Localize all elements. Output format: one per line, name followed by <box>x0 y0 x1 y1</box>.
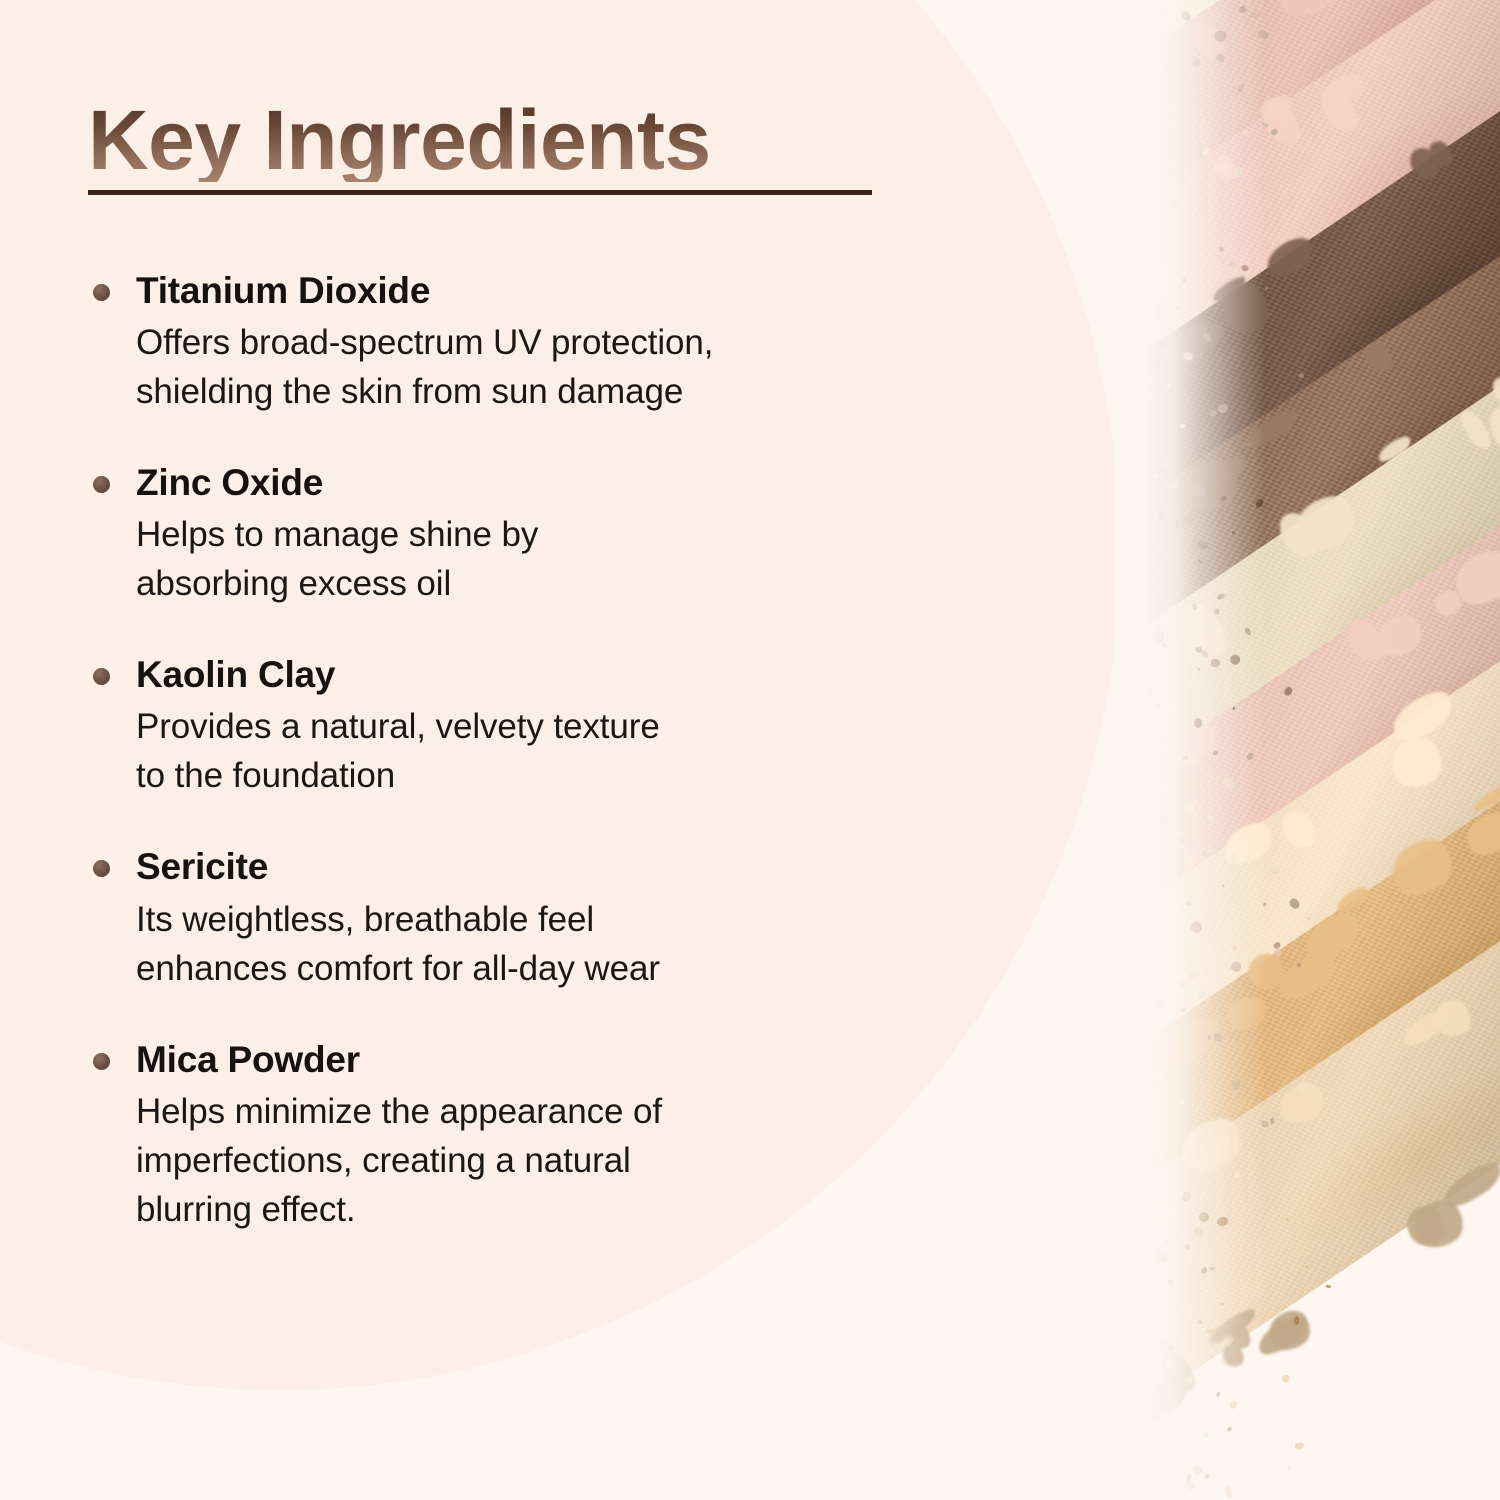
bullet-dot-icon <box>93 668 110 685</box>
powder-speckle <box>1218 246 1223 252</box>
powder-crumb <box>1115 808 1145 862</box>
powder-speckle <box>1222 884 1224 887</box>
powder-speckle <box>1151 679 1153 681</box>
powder-crumb <box>1275 805 1322 854</box>
powder-crumb <box>1115 534 1140 575</box>
powder-crumb <box>1382 729 1450 797</box>
list-item: Kaolin ClayProvides a natural, velvety t… <box>90 652 970 800</box>
powder-speckle <box>1185 1480 1196 1491</box>
powder-speckle <box>1149 1449 1151 1452</box>
powder-crumb <box>1437 1156 1500 1215</box>
content-column: Key Ingredients Titanium DioxideOffers b… <box>0 0 1000 1500</box>
powder-speckle <box>1144 995 1148 1001</box>
powder-speckle <box>1205 1328 1214 1334</box>
powder-speckle <box>1203 1431 1210 1438</box>
powder-speckle <box>1298 373 1303 378</box>
powder-speckle <box>1210 658 1219 667</box>
ingredient-name: Kaolin Clay <box>136 652 970 697</box>
powder-crumb <box>1115 1059 1158 1120</box>
powder-speckle <box>1159 1432 1162 1436</box>
ingredient-description: Provides a natural, velvety texture to t… <box>136 702 970 800</box>
powder-speckle <box>1147 89 1153 96</box>
powder-speckle <box>1295 1442 1304 1450</box>
bullet-dot-icon <box>93 476 110 493</box>
ingredient-name: Titanium Dioxide <box>136 268 970 313</box>
list-item: SericiteIts weightless, breathable feel … <box>90 844 970 992</box>
ingredient-description: Its weightless, breathable feel enhances… <box>136 895 970 993</box>
ingredient-name: Sericite <box>136 844 970 889</box>
powder-speckle <box>1209 1266 1215 1270</box>
powder-speckle <box>1286 1466 1291 1471</box>
powder-speckle <box>1205 1475 1210 1480</box>
powder-speckle <box>1220 1303 1224 1305</box>
powder-speckle <box>1281 1373 1292 1384</box>
powder-speckle <box>1164 999 1167 1002</box>
powder-speckle <box>1161 256 1163 259</box>
powder-swatch-image <box>1115 0 1500 1500</box>
ingredient-list: Titanium DioxideOffers broad-spectrum UV… <box>90 268 970 1234</box>
list-item: Mica PowderHelps minimize the appearance… <box>90 1037 970 1234</box>
powder-speckle <box>1207 1035 1210 1040</box>
powder-speckle <box>1226 1426 1233 1433</box>
ingredient-name: Zinc Oxide <box>136 460 970 505</box>
powder-speckle <box>1326 1285 1331 1289</box>
title-block: Key Ingredients <box>88 98 888 195</box>
powder-speckle <box>1252 11 1260 18</box>
ingredient-name: Mica Powder <box>136 1037 970 1082</box>
list-item: Zinc OxideHelps to manage shine by absor… <box>90 460 970 608</box>
poster-canvas: Key Ingredients Titanium DioxideOffers b… <box>0 0 1500 1500</box>
powder-speckle <box>1165 1148 1170 1156</box>
powder-speckle <box>1207 815 1213 821</box>
powder-speckle <box>1144 157 1150 164</box>
page-title: Key Ingredients <box>88 98 888 182</box>
powder-speckle <box>1161 118 1169 127</box>
powder-speckle <box>1226 1137 1230 1143</box>
powder-speckle <box>1202 851 1205 855</box>
powder-crumb <box>1115 1427 1130 1490</box>
ingredient-description: Offers broad-spectrum UV protection, shi… <box>136 318 970 416</box>
bullet-dot-icon <box>93 284 110 301</box>
title-underline <box>88 190 872 195</box>
powder-crumb <box>1115 362 1122 397</box>
powder-speckle <box>1145 698 1153 705</box>
ingredient-description: Helps minimize the appearance of imperfe… <box>136 1087 970 1234</box>
ingredient-description: Helps to manage shine by absorbing exces… <box>136 510 970 608</box>
powder-speckle <box>1227 1399 1239 1411</box>
powder-speckle <box>1162 1437 1165 1439</box>
powder-speckle <box>1225 1491 1232 1499</box>
list-item: Titanium DioxideOffers broad-spectrum UV… <box>90 268 970 416</box>
powder-speckle <box>1151 668 1158 674</box>
powder-speckle <box>1270 866 1279 874</box>
powder-crumb <box>1269 0 1350 27</box>
powder-crumb <box>1115 201 1165 278</box>
bullet-dot-icon <box>93 860 110 877</box>
powder-speckle <box>1216 1392 1220 1397</box>
powder-speckle <box>1192 1465 1203 1476</box>
powder-speckle <box>1294 1315 1299 1324</box>
bullet-dot-icon <box>93 1053 110 1070</box>
powder-speckle <box>1213 751 1218 755</box>
